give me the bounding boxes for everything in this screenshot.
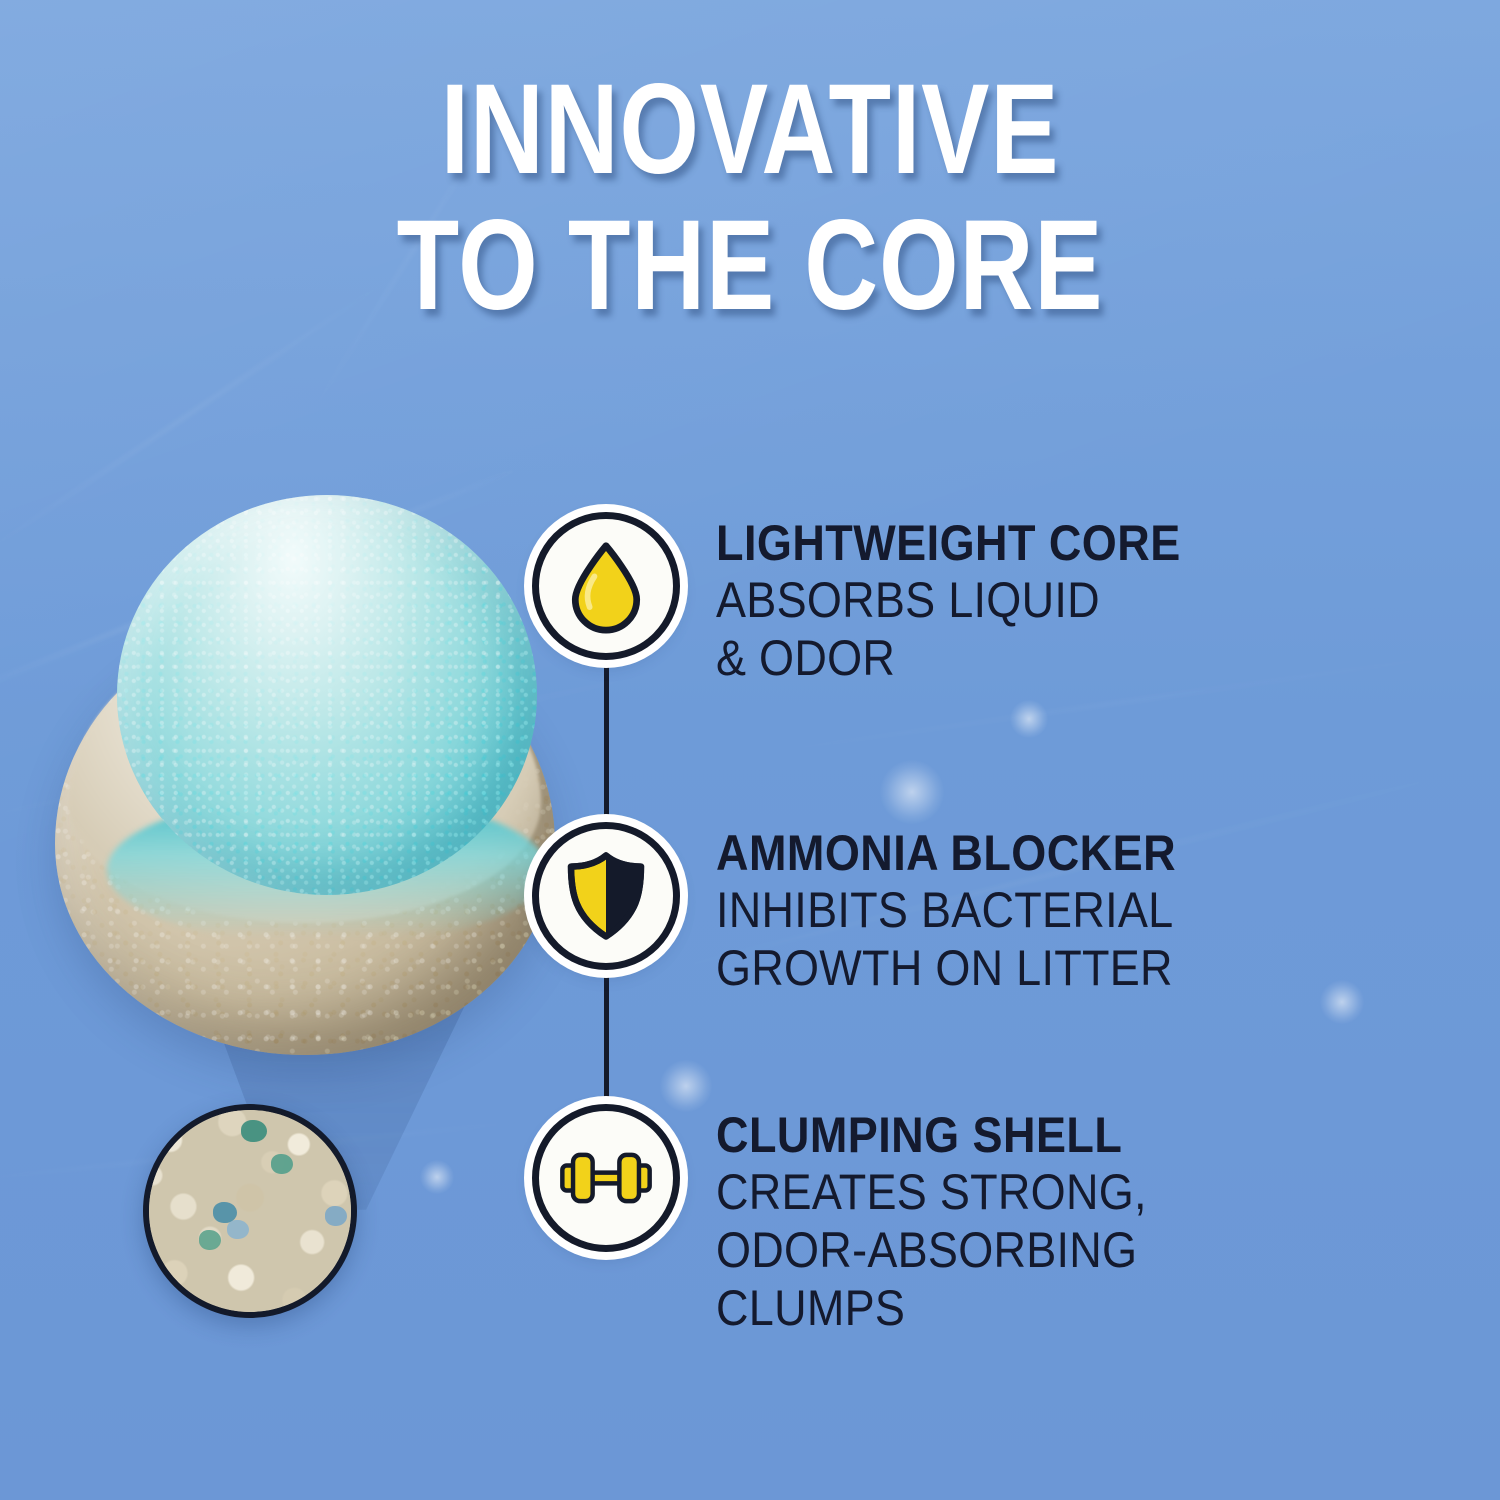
droplet-badge[interactable] [532,512,680,660]
feature-text-block: LIGHTWEIGHT CORE ABSORBS LIQUID & ODOR [716,516,1364,687]
sparkle [660,1060,712,1112]
shield-icon [560,850,652,942]
droplet-icon [558,538,654,634]
sparkle [880,760,944,824]
feature-heading: CLUMPING SHELL [716,1108,1364,1163]
feature-body-line: INHIBITS BACTERIAL [716,881,1364,939]
blue-speck [227,1220,249,1239]
feature-heading: AMMONIA BLOCKER [716,826,1364,881]
feature-body-line: GROWTH ON LITTER [716,939,1364,997]
sparkle [1010,700,1048,738]
blue-speck [325,1206,347,1226]
page-title: INNOVATIVE TO THE CORE [150,62,1350,333]
litter-granules-inset [143,1104,357,1318]
feature-text-block: AMMONIA BLOCKER INHIBITS BACTERIAL GROWT… [716,826,1364,997]
dumbbell-badge[interactable] [532,1104,680,1252]
teal-speck [271,1154,293,1174]
teal-speck [241,1120,267,1142]
title-line-1: INNOVATIVE [441,58,1060,201]
infographic-canvas: INNOVATIVE TO THE CORE LIGHTWEIGHT CORE [0,0,1500,1500]
feature-body-line: & ODOR [716,629,1364,687]
feature-body-line: CLUMPS [716,1279,1364,1337]
teal-speck [199,1230,221,1250]
sparkle [420,1160,454,1194]
title-line-2: TO THE CORE [150,198,1350,334]
feature-heading: LIGHTWEIGHT CORE [716,516,1364,571]
dumbbell-icon [557,1129,655,1227]
connector-line [604,648,609,844]
connector-line [604,962,609,1112]
shield-badge[interactable] [532,822,680,970]
feature-body-line: CREATES STRONG, [716,1163,1364,1221]
feature-body-line: ABSORBS LIQUID [716,571,1364,629]
feature-body-line: ODOR-ABSORBING [716,1221,1364,1279]
lightweight-core-dome [117,495,537,895]
product-cutaway-sphere [55,495,575,1055]
feature-text-block: CLUMPING SHELL CREATES STRONG, ODOR-ABSO… [716,1108,1364,1337]
